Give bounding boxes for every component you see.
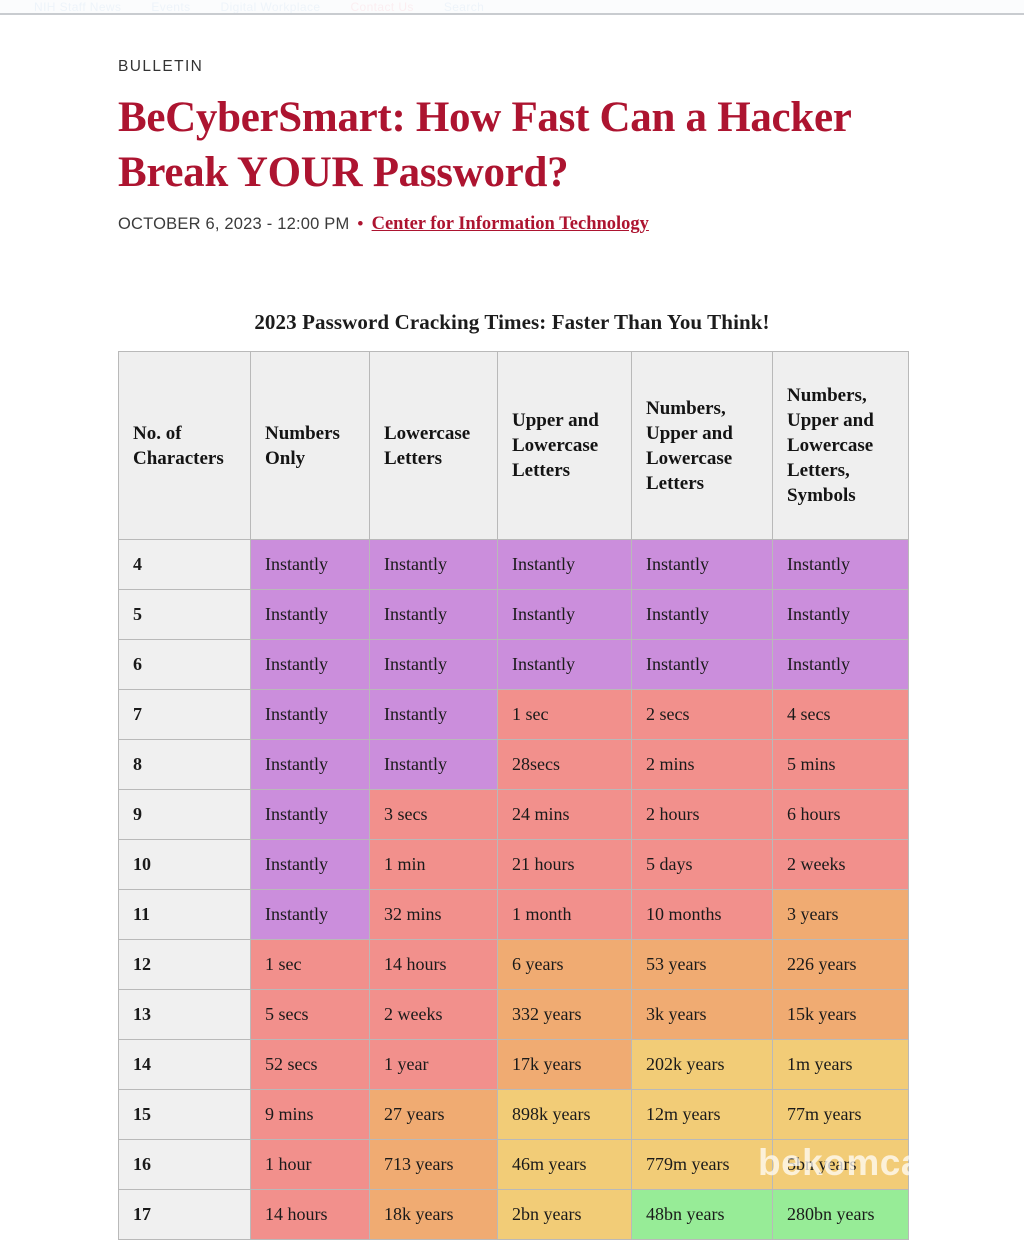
cell-crack-time: 6 hours — [773, 790, 909, 840]
cell-character-count: 5 — [119, 590, 251, 640]
cell-crack-time: 28secs — [498, 740, 632, 790]
column-header-upperlower: Upper and Lowercase Letters — [498, 352, 632, 540]
cell-crack-time: 1 hour — [251, 1140, 370, 1190]
table-row: 7InstantlyInstantly1 sec2 secs4 secs — [119, 690, 909, 740]
cell-crack-time: 6 years — [498, 940, 632, 990]
table-row: 121 sec14 hours6 years53 years226 years — [119, 940, 909, 990]
byline-date: OCTOBER 6, 2023 - 12:00 PM — [118, 215, 349, 234]
article-content: BULLETIN BeCyberSmart: How Fast Can a Ha… — [0, 15, 1024, 1240]
byline: OCTOBER 6, 2023 - 12:00 PM • Center for … — [118, 214, 1024, 235]
cell-crack-time: 779m years — [632, 1140, 773, 1190]
cell-crack-time: Instantly — [632, 540, 773, 590]
table-row: 11Instantly32 mins1 month10 months3 year… — [119, 890, 909, 940]
table-body: 4InstantlyInstantlyInstantlyInstantlyIns… — [119, 540, 909, 1240]
table-row: 5InstantlyInstantlyInstantlyInstantlyIns… — [119, 590, 909, 640]
column-header-numupperlow: Numbers, Upper and Lowercase Letters — [632, 352, 773, 540]
cell-crack-time: 1 year — [370, 1040, 498, 1090]
byline-source-link[interactable]: Center for Information Technology — [372, 214, 649, 235]
cell-crack-time: Instantly — [251, 590, 370, 640]
table-row: 1452 secs1 year17k years202k years1m yea… — [119, 1040, 909, 1090]
cell-crack-time: 77m years — [773, 1090, 909, 1140]
cell-crack-time: 2 weeks — [370, 990, 498, 1040]
cell-crack-time: 14 hours — [370, 940, 498, 990]
cell-character-count: 17 — [119, 1190, 251, 1240]
cell-crack-time: 5bn years — [773, 1140, 909, 1190]
cell-crack-time: Instantly — [251, 840, 370, 890]
cell-crack-time: 5 mins — [773, 740, 909, 790]
table-row: 8InstantlyInstantly28secs2 mins5 mins — [119, 740, 909, 790]
cell-crack-time: Instantly — [251, 540, 370, 590]
cell-crack-time: Instantly — [370, 540, 498, 590]
cell-crack-time: Instantly — [251, 740, 370, 790]
cell-character-count: 8 — [119, 740, 251, 790]
cell-crack-time: 1 sec — [498, 690, 632, 740]
table-row: 1714 hours18k years2bn years48bn years28… — [119, 1190, 909, 1240]
cell-crack-time: 17k years — [498, 1040, 632, 1090]
cell-crack-time: Instantly — [251, 890, 370, 940]
cell-crack-time: Instantly — [498, 590, 632, 640]
cell-crack-time: 2bn years — [498, 1190, 632, 1240]
cell-crack-time: 226 years — [773, 940, 909, 990]
cell-crack-time: 3k years — [632, 990, 773, 1040]
nav-item-4[interactable]: Search — [444, 1, 484, 13]
cell-crack-time: 3 years — [773, 890, 909, 940]
cell-character-count: 9 — [119, 790, 251, 840]
cell-crack-time: 1m years — [773, 1040, 909, 1090]
cell-character-count: 11 — [119, 890, 251, 940]
table-row: 9Instantly3 secs24 mins2 hours6 hours — [119, 790, 909, 840]
cell-crack-time: Instantly — [370, 690, 498, 740]
cell-character-count: 12 — [119, 940, 251, 990]
cell-crack-time: 10 months — [632, 890, 773, 940]
cell-character-count: 7 — [119, 690, 251, 740]
cell-crack-time: 15k years — [773, 990, 909, 1040]
cell-crack-time: Instantly — [251, 690, 370, 740]
cell-crack-time: 12m years — [632, 1090, 773, 1140]
cell-crack-time: Instantly — [773, 590, 909, 640]
cell-crack-time: 1 min — [370, 840, 498, 890]
cell-crack-time: Instantly — [498, 640, 632, 690]
cell-character-count: 14 — [119, 1040, 251, 1090]
cell-crack-time: 5 days — [632, 840, 773, 890]
cell-crack-time: 53 years — [632, 940, 773, 990]
column-header-allsymbols: Numbers, Upper and Lowercase Letters, Sy… — [773, 352, 909, 540]
cell-crack-time: 18k years — [370, 1190, 498, 1240]
cell-character-count: 15 — [119, 1090, 251, 1140]
nav-item-1[interactable]: Events — [151, 1, 190, 13]
cell-crack-time: 1 sec — [251, 940, 370, 990]
nav-item-0[interactable]: NIH Staff News — [34, 1, 121, 13]
cell-crack-time: 46m years — [498, 1140, 632, 1190]
cell-character-count: 6 — [119, 640, 251, 690]
byline-separator: • — [357, 215, 363, 232]
cell-crack-time: 1 month — [498, 890, 632, 940]
table-row: 135 secs2 weeks332 years3k years15k year… — [119, 990, 909, 1040]
table-row: 10Instantly1 min21 hours5 days2 weeks — [119, 840, 909, 890]
cell-crack-time: Instantly — [773, 540, 909, 590]
cell-crack-time: 2 weeks — [773, 840, 909, 890]
cell-crack-time: 2 mins — [632, 740, 773, 790]
cell-crack-time: 4 secs — [773, 690, 909, 740]
cell-crack-time: 5 secs — [251, 990, 370, 1040]
cell-crack-time: Instantly — [498, 540, 632, 590]
cell-crack-time: 280bn years — [773, 1190, 909, 1240]
cell-crack-time: 332 years — [498, 990, 632, 1040]
nav-item-3[interactable]: Contact Us — [350, 1, 413, 13]
column-header-lowercase: Lowercase Letters — [370, 352, 498, 540]
table-row: 161 hour713 years46m years779m years5bn … — [119, 1140, 909, 1190]
cell-crack-time: Instantly — [632, 590, 773, 640]
table-row: 159 mins27 years898k years12m years77m y… — [119, 1090, 909, 1140]
table-row: 6InstantlyInstantlyInstantlyInstantlyIns… — [119, 640, 909, 690]
cell-character-count: 4 — [119, 540, 251, 590]
article-kicker: BULLETIN — [118, 58, 1024, 76]
cell-crack-time: 32 mins — [370, 890, 498, 940]
cell-crack-time: Instantly — [370, 590, 498, 640]
cell-crack-time: 24 mins — [498, 790, 632, 840]
table-title: 2023 Password Cracking Times: Faster Tha… — [0, 310, 1024, 335]
cell-crack-time: Instantly — [370, 740, 498, 790]
page-title: BeCyberSmart: How Fast Can a Hacker Brea… — [118, 90, 858, 200]
cell-crack-time: Instantly — [251, 790, 370, 840]
cell-crack-time: 14 hours — [251, 1190, 370, 1240]
cell-crack-time: Instantly — [773, 640, 909, 690]
cell-crack-time: 48bn years — [632, 1190, 773, 1240]
password-cracking-times-table: No. of Characters Numbers Only Lowercase… — [118, 351, 909, 1240]
cell-crack-time: 52 secs — [251, 1040, 370, 1090]
cell-crack-time: 2 secs — [632, 690, 773, 740]
cell-crack-time: 21 hours — [498, 840, 632, 890]
cell-character-count: 10 — [119, 840, 251, 890]
cell-crack-time: Instantly — [370, 640, 498, 690]
site-top-navbar[interactable]: NIH Staff News Events Digital Workplace … — [0, 0, 1024, 15]
cell-crack-time: 3 secs — [370, 790, 498, 840]
cell-crack-time: 2 hours — [632, 790, 773, 840]
cell-crack-time: 713 years — [370, 1140, 498, 1190]
cell-crack-time: 898k years — [498, 1090, 632, 1140]
column-header-numbers: Numbers Only — [251, 352, 370, 540]
table-header-row: No. of Characters Numbers Only Lowercase… — [119, 352, 909, 540]
nav-item-2[interactable]: Digital Workplace — [221, 1, 321, 13]
cell-crack-time: Instantly — [251, 640, 370, 690]
cell-crack-time: 202k years — [632, 1040, 773, 1090]
cell-character-count: 16 — [119, 1140, 251, 1190]
column-header-characters: No. of Characters — [119, 352, 251, 540]
cell-crack-time: 9 mins — [251, 1090, 370, 1140]
table-row: 4InstantlyInstantlyInstantlyInstantlyIns… — [119, 540, 909, 590]
cell-character-count: 13 — [119, 990, 251, 1040]
cell-crack-time: Instantly — [632, 640, 773, 690]
cell-crack-time: 27 years — [370, 1090, 498, 1140]
